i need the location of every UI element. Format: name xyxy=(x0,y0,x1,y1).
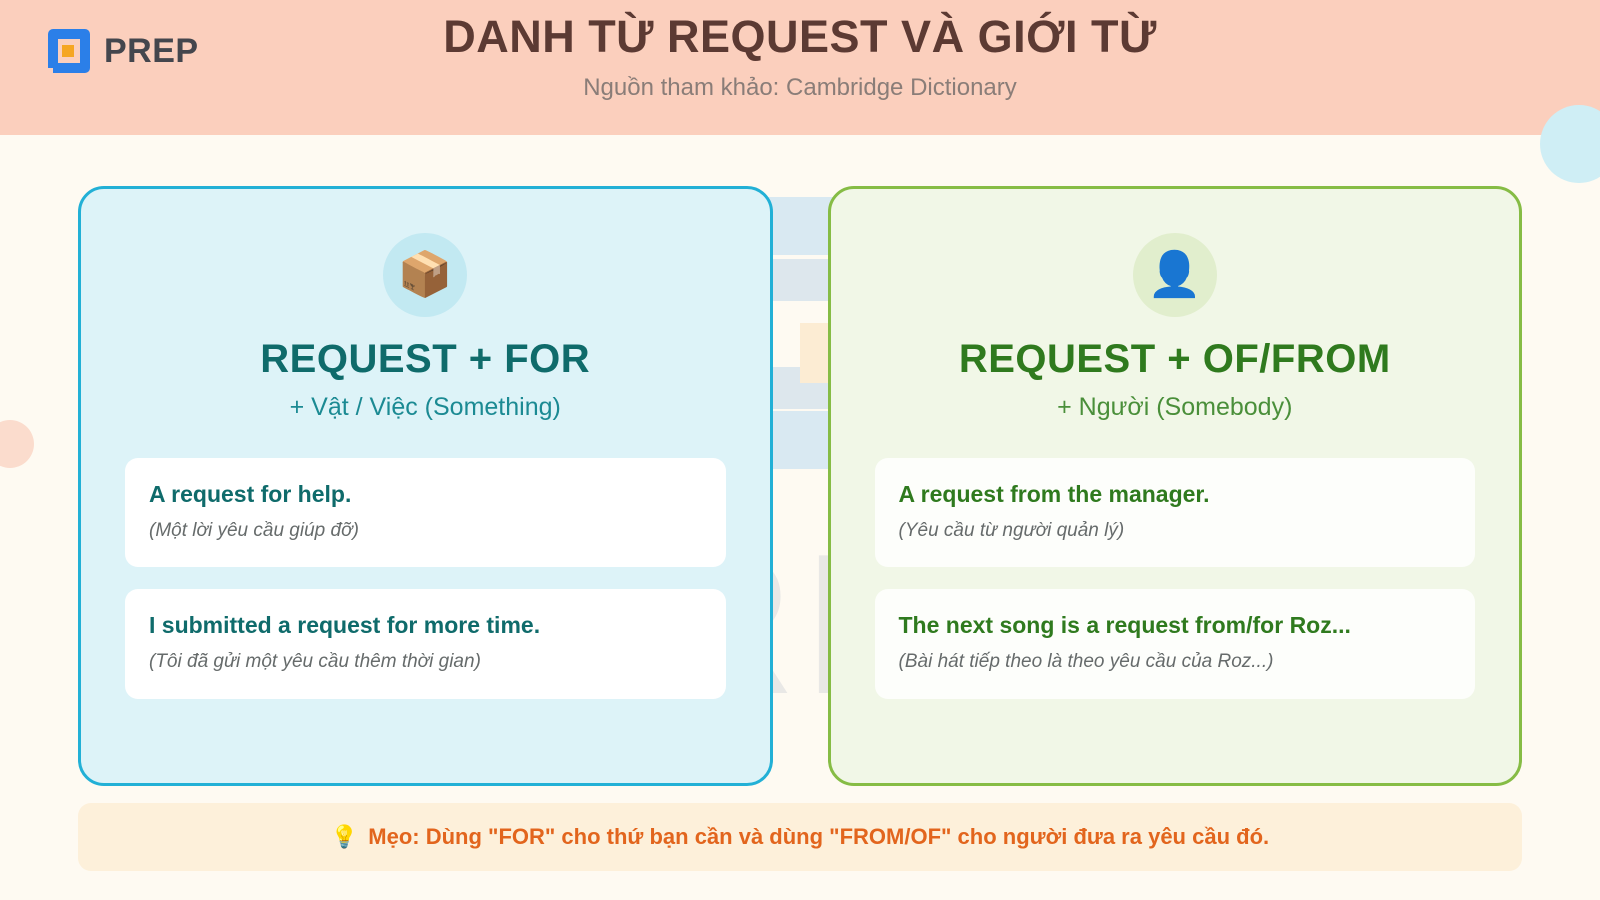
example-english: I submitted a request for more time. xyxy=(149,611,702,640)
example-english: A request from the manager. xyxy=(899,480,1452,509)
page-header: PREP DANH TỪ REQUEST VÀ GIỚI TỪ Nguồn th… xyxy=(0,0,1600,135)
example-item: I submitted a request for more time. (Tô… xyxy=(125,589,726,698)
person-icon: 👤 xyxy=(1133,233,1217,317)
card-title-request-for: REQUEST + FOR xyxy=(125,337,726,381)
example-vietnamese: (Bài hát tiếp theo là theo yêu cầu của R… xyxy=(899,650,1452,675)
example-english: The next song is a request from/for Roz.… xyxy=(899,611,1452,640)
card-title-request-of-from: REQUEST + OF/FROM xyxy=(875,337,1476,381)
tip-banner: 💡 Mẹo: Dùng "FOR" cho thứ bạn cần và dùn… xyxy=(78,803,1522,871)
page-subtitle: Nguồn tham khảo: Cambridge Dictionary xyxy=(300,74,1300,102)
example-english: A request for help. xyxy=(149,480,702,509)
example-vietnamese: (Một lời yêu cầu giúp đỡ) xyxy=(149,519,702,544)
examples-list-request-for: A request for help. (Một lời yêu cầu giú… xyxy=(125,458,726,699)
prep-bracket-logo-icon xyxy=(44,26,94,76)
card-request-of-from[interactable]: 👤 REQUEST + OF/FROM + Người (Somebody) A… xyxy=(828,186,1523,786)
page-title: DANH TỪ REQUEST VÀ GIỚI TỪ xyxy=(300,12,1300,62)
cards-container: 📦 REQUEST + FOR + Vật / Việc (Something)… xyxy=(0,186,1600,786)
tip-text: Mẹo: Dùng "FOR" cho thứ bạn cần và dùng … xyxy=(368,826,1269,848)
example-item: A request for help. (Một lời yêu cầu giú… xyxy=(125,458,726,567)
card-subtitle-request-of-from: + Người (Somebody) xyxy=(875,393,1476,422)
example-vietnamese: (Tôi đã gửi một yêu cầu thêm thời gian) xyxy=(149,650,702,675)
brand-logo[interactable]: PREP xyxy=(44,26,199,76)
example-item: A request from the manager. (Yêu cầu từ … xyxy=(875,458,1476,567)
card-subtitle-request-for: + Vật / Việc (Something) xyxy=(125,393,726,422)
examples-list-request-of-from: A request from the manager. (Yêu cầu từ … xyxy=(875,458,1476,699)
brand-logo-text: PREP xyxy=(104,34,199,68)
title-block: DANH TỪ REQUEST VÀ GIỚI TỪ Nguồn tham kh… xyxy=(300,12,1300,102)
card-request-for[interactable]: 📦 REQUEST + FOR + Vật / Việc (Something)… xyxy=(78,186,773,786)
example-item: The next song is a request from/for Roz.… xyxy=(875,589,1476,698)
lightbulb-icon: 💡 xyxy=(331,826,358,848)
example-vietnamese: (Yêu cầu từ người quản lý) xyxy=(899,519,1452,544)
package-icon: 📦 xyxy=(383,233,467,317)
